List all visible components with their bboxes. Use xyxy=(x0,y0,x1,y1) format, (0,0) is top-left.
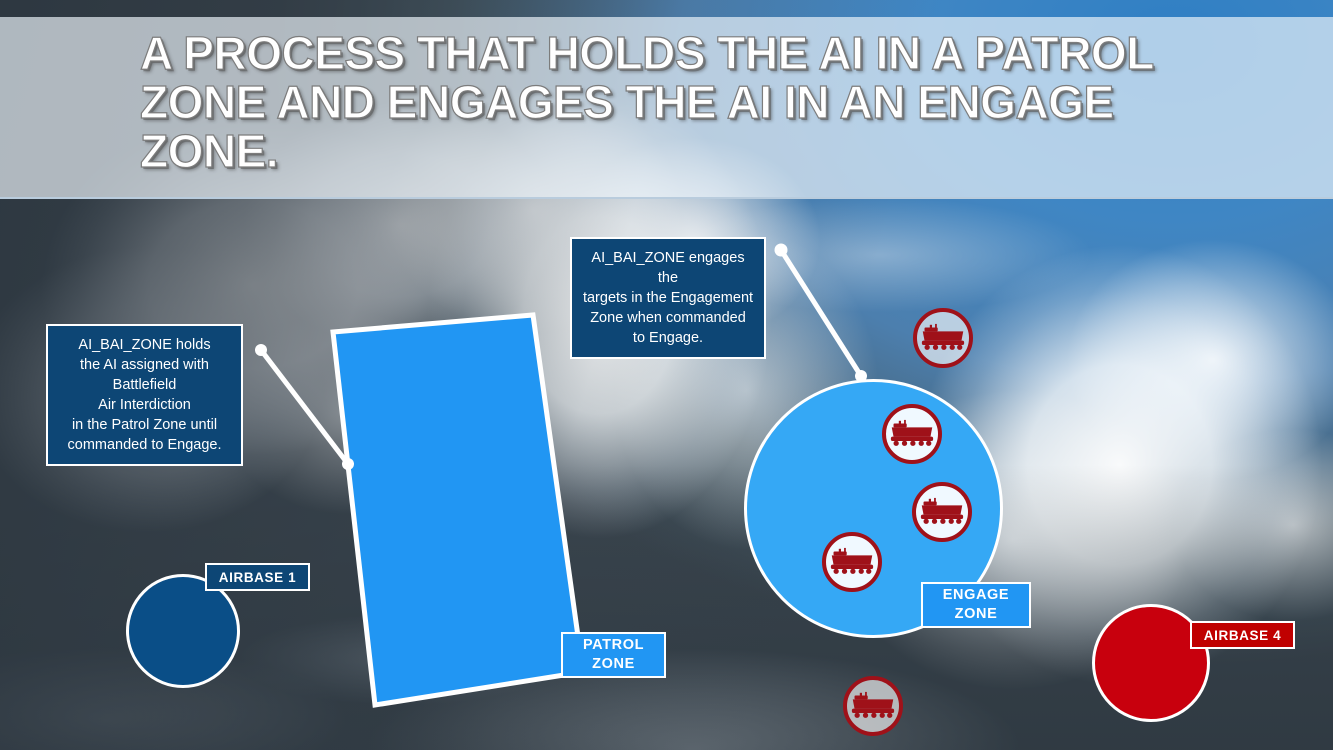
callout-line: Zone when commanded xyxy=(582,308,754,328)
callout-line: AI_BAI_ZONE holds xyxy=(58,335,231,355)
leader-dot-patrol-end xyxy=(342,458,354,470)
patrol-callout-box[interactable]: AI_BAI_ZONE holds the AI assigned with B… xyxy=(46,324,243,466)
callout-line: AI_BAI_ZONE engages the xyxy=(582,248,754,288)
callout-line: Air Interdiction xyxy=(58,395,231,415)
airbase1-label[interactable]: AIRBASE 1 xyxy=(205,563,310,591)
callout-line: to Engage. xyxy=(582,328,754,348)
callout-line: targets in the Engagement xyxy=(582,288,754,308)
leader-line-patrol xyxy=(261,350,348,464)
top-accent-bar xyxy=(0,0,1333,17)
tank-marker[interactable] xyxy=(882,404,942,464)
leader-dot-patrol-start xyxy=(255,344,267,356)
tank-icon xyxy=(890,419,934,449)
slide-canvas: AI_BAI_ZONE holds the AI assigned with B… xyxy=(0,0,1333,750)
airbase1-label-text: AIRBASE 1 xyxy=(219,570,296,585)
tank-icon xyxy=(830,547,874,577)
callout-line: in the Patrol Zone until xyxy=(58,415,231,435)
patrol-zone-label[interactable]: PATROL ZONE xyxy=(561,632,666,678)
engage-zone-label[interactable]: ENGAGE ZONE xyxy=(921,582,1031,628)
tank-icon xyxy=(921,323,965,353)
tank-marker[interactable] xyxy=(913,308,973,368)
leader-dot-engage-start xyxy=(775,244,788,257)
engage-zone-label-line2: ZONE xyxy=(955,605,998,624)
patrol-zone-label-line1: PATROL xyxy=(583,636,644,655)
tank-marker[interactable] xyxy=(822,532,882,592)
leader-line-engage xyxy=(781,250,861,376)
callout-line: Battlefield xyxy=(58,375,231,395)
patrol-zone-label-line2: ZONE xyxy=(592,655,635,674)
tank-icon xyxy=(920,497,964,527)
airbase4-label[interactable]: AIRBASE 4 xyxy=(1190,621,1295,649)
page-title: A PROCESS THAT HOLDS THE AI IN A PATROL … xyxy=(140,29,1220,176)
callout-line: the AI assigned with xyxy=(58,355,231,375)
callout-line: commanded to Engage. xyxy=(58,435,231,455)
airbase4-label-text: AIRBASE 4 xyxy=(1204,628,1281,643)
tank-marker[interactable] xyxy=(912,482,972,542)
engage-callout-box[interactable]: AI_BAI_ZONE engages the targets in the E… xyxy=(570,237,766,359)
patrol-zone-polygon[interactable] xyxy=(333,315,583,705)
tank-marker[interactable] xyxy=(843,676,903,736)
tank-icon xyxy=(851,691,895,721)
airbase1-shape[interactable] xyxy=(126,574,240,688)
engage-zone-label-line1: ENGAGE xyxy=(943,586,1009,605)
